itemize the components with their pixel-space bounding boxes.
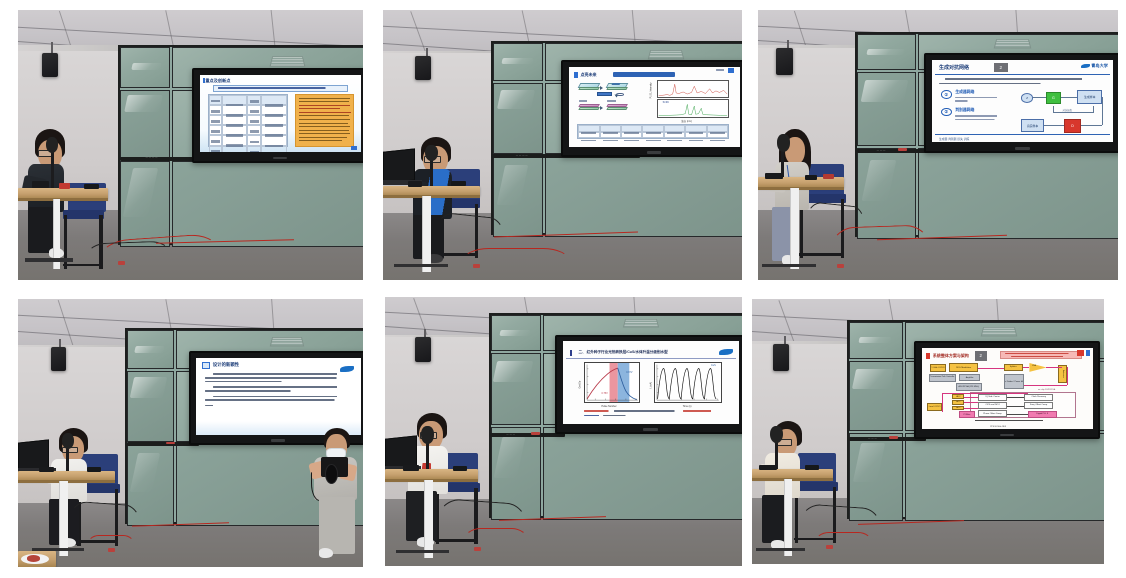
air-vent-grille xyxy=(648,50,684,59)
node-label: 真实样本 xyxy=(1027,124,1038,128)
block-label: Antenna xyxy=(1062,370,1064,378)
signal-wire xyxy=(1007,414,1028,415)
header-rule xyxy=(566,358,736,359)
slide-3: 生成对抗网络 2 青岛大学 ① 生成器网络 ② 判别器网络 xyxy=(932,60,1114,142)
slide-footer: 生成器 判别器 损失 训练 xyxy=(939,137,969,141)
header-marker xyxy=(203,78,205,83)
slide-title-bar xyxy=(613,72,675,78)
ceiling-speaker-icon xyxy=(776,48,793,75)
chart-right-tag: CuS xyxy=(711,364,716,367)
slide-subtitle-banner xyxy=(213,85,348,92)
bullet-desc-line xyxy=(955,100,970,101)
marker xyxy=(889,436,897,439)
photo-3-frame: — — — 生成对抗网络 2 青岛大学 ① 生成器网络 xyxy=(758,10,1118,280)
footer-label: PPS/10 MHz REF xyxy=(990,426,1006,428)
microphone xyxy=(421,426,434,443)
air-vent-grille xyxy=(623,319,660,328)
photo-cell-5: — — — 二、 红外种子行业光热转换层/CuS/水体升温分级别水型 xyxy=(375,289,750,578)
wall-display[interactable]: 点亮未来 xyxy=(561,60,742,157)
plate-food xyxy=(27,555,41,561)
diagram-edge xyxy=(1061,97,1077,98)
device-schematic xyxy=(577,82,652,120)
desk-edge xyxy=(758,187,844,190)
photo-cell-4: 设计的新颖性 xyxy=(0,289,375,578)
floor-cable-black xyxy=(87,241,171,268)
desk-device xyxy=(765,173,783,179)
chart-right-ylabel: I, (nA) xyxy=(649,382,652,389)
slide-header: 生成对抗网络 xyxy=(939,64,969,71)
slide-table xyxy=(208,94,288,147)
desk-leg xyxy=(756,548,805,551)
diagram-node-real-sample: 真实样本 xyxy=(1021,119,1045,131)
block-label: Phase Offset Comp. xyxy=(983,413,1002,415)
diagram-edge xyxy=(1102,97,1103,125)
board-pane xyxy=(491,353,542,425)
logo-swoosh-icon xyxy=(719,349,733,355)
board-pane xyxy=(918,148,1118,239)
cable-clip xyxy=(826,545,833,549)
dsp-group-label: on-chip DSP/FPGA xyxy=(1038,389,1055,391)
cable-clip xyxy=(118,261,125,265)
block-label: ADC xyxy=(956,401,960,403)
board-pane xyxy=(493,43,543,81)
block-label: DDS Modulator xyxy=(956,367,971,369)
signal-wire xyxy=(1007,397,1024,398)
wall-display[interactable]: 重点及创新点 xyxy=(192,68,363,163)
diagram-edge xyxy=(1044,125,1064,126)
desk-device xyxy=(823,174,834,179)
signal-wire xyxy=(964,397,978,398)
chart-right xyxy=(654,362,721,403)
desk-device xyxy=(408,181,422,186)
block-transmission-path-controller: Transmission Path Controller xyxy=(929,374,956,382)
desk-edge xyxy=(752,478,833,481)
board-pane xyxy=(905,433,1104,521)
signal-wire xyxy=(1024,385,1067,386)
board-pane xyxy=(127,330,175,368)
chart-left xyxy=(584,362,641,403)
tray-label: — — — xyxy=(877,150,886,152)
ceiling-speaker-icon xyxy=(415,337,431,361)
diagram-edge-label: 对抗损失 xyxy=(1063,108,1073,112)
bullet-desc-line xyxy=(955,97,1006,98)
photo-cell-3: — — — 生成对抗网络 2 青岛大学 ① 生成器网络 xyxy=(750,0,1126,289)
block-phase-offset-comp: Phase Offset Comp. xyxy=(978,410,1007,416)
board-pane xyxy=(543,427,742,519)
display-logo-plate xyxy=(1000,434,1015,436)
block-cic-nco: CIC/Local NCO xyxy=(978,402,1007,408)
board-pane xyxy=(849,322,903,359)
photo-1-frame: — — — — 重点及创新点 xyxy=(18,10,363,280)
desk-leg xyxy=(25,258,73,261)
display-screen[interactable]: 点亮未来 xyxy=(569,67,740,147)
display-logo-plate xyxy=(273,157,287,159)
air-vent-grille xyxy=(269,56,305,66)
header-marker xyxy=(926,353,930,359)
photo-5-frame: — — — 二、 红外种子行业光热转换层/CuS/水体升温分级别水型 xyxy=(385,297,742,566)
block-label: Clock Recovery xyxy=(1032,396,1047,398)
caption-line xyxy=(584,410,612,412)
cable-clip xyxy=(473,264,480,268)
bullet-desc-line xyxy=(955,119,1002,120)
ceiling-speaker-icon xyxy=(42,53,58,77)
block-clock-recovery: Clock Recovery xyxy=(1024,394,1053,400)
display-screen[interactable]: 生成对抗网络 2 青岛大学 ① 生成器网络 ② 判别器网络 xyxy=(932,60,1114,142)
chart-left-annotation-1: 0.75V xyxy=(601,392,607,395)
bullet-title: 生成器网络 xyxy=(955,90,974,95)
block-ocxo: 1 GHz OCXO xyxy=(930,364,945,372)
desk-device xyxy=(87,467,101,472)
header-bar xyxy=(570,350,573,357)
photo-4-frame: 设计的新颖性 xyxy=(18,299,363,567)
bullet-number: ① xyxy=(941,90,952,98)
wall-display[interactable]: 系统整体方案与架构 2 1 GHz OCXO DD xyxy=(914,341,1101,439)
chart-annotation: S=46 xyxy=(663,101,669,104)
tray-label: — — — — xyxy=(146,157,158,159)
air-vent-grille xyxy=(981,327,1018,336)
slide-body-line xyxy=(205,405,215,407)
desk-leg xyxy=(424,480,433,558)
slide-header: 二、 红外种子行业光热转换层/CuS/水体升温分级别水型 xyxy=(578,350,667,355)
floor-cable-red xyxy=(815,532,871,553)
block-label: ADC/FPGA (125 MS/s) xyxy=(958,386,978,388)
board-pane xyxy=(857,34,916,70)
block-adc-2: ADC xyxy=(952,400,964,405)
slide-body-line xyxy=(213,373,351,375)
slide-body-line xyxy=(205,381,290,383)
tray-label: — — — — xyxy=(516,155,528,157)
block-label: CIC/Local NCO xyxy=(985,404,999,406)
caption-line xyxy=(614,410,681,412)
diagram-node-generator: G xyxy=(1046,92,1061,104)
board-pane xyxy=(545,156,742,238)
block-digital-pll: Digital PLL II xyxy=(1028,411,1057,417)
microphone xyxy=(62,433,74,449)
block-label: 1 GHz OCXO xyxy=(931,367,944,369)
desk-device xyxy=(453,466,467,471)
board-pane xyxy=(491,315,542,351)
node-label: 生成样本 xyxy=(1084,95,1095,99)
board-pane xyxy=(120,161,170,247)
desk-device xyxy=(84,184,100,189)
chart-left-xlabel: Pulse Number xyxy=(601,405,616,408)
cable-clip xyxy=(837,264,844,268)
chart-right-xlabel: Time (s) xyxy=(683,405,692,408)
slide-corner-text xyxy=(716,69,726,70)
desk-leg xyxy=(394,264,448,267)
desk-device xyxy=(805,465,819,470)
floor-cable-red xyxy=(87,535,135,556)
display-screen[interactable]: 系统整体方案与架构 2 1 GHz OCXO DD xyxy=(922,348,1093,429)
legs xyxy=(319,497,356,553)
caption-line xyxy=(584,415,602,417)
signal-wire xyxy=(1067,367,1068,385)
caption-line xyxy=(603,415,628,417)
block-label: Freq. Offset Comp. xyxy=(1030,404,1048,406)
board-pane xyxy=(857,72,916,146)
slide-body-line xyxy=(213,386,351,388)
chart-left-annotation-2: 0.97V xyxy=(626,371,632,374)
block-label: PI Filter xyxy=(964,414,971,416)
board-pane xyxy=(120,90,170,159)
floor-cable-black xyxy=(798,201,869,272)
display-logo-plate xyxy=(271,439,285,441)
wall-display[interactable]: 生成对抗网络 2 青岛大学 ① 生成器网络 ② 判别器网络 xyxy=(924,53,1118,153)
block-adc-1: ADC xyxy=(952,394,964,399)
microphone xyxy=(777,134,790,152)
block-label: Digital PLL II xyxy=(1036,413,1048,415)
footer-rule xyxy=(935,134,1109,136)
slide-callout xyxy=(295,94,355,147)
desk-edge xyxy=(18,198,108,201)
bullet-desc-line xyxy=(955,115,1006,116)
board-pane xyxy=(172,161,363,247)
slide-6: 系统整体方案与架构 2 1 GHz OCXO DD xyxy=(922,348,1093,429)
block-dds-modulator: DDS Modulator xyxy=(949,363,978,372)
block-label: Local OCXO xyxy=(929,406,941,408)
ceiling-speaker-icon xyxy=(773,344,789,371)
desk-device xyxy=(451,181,465,186)
slide-body-line xyxy=(205,377,351,379)
floor-cable-red xyxy=(462,248,570,275)
block-label: IQ Sub- Carrier xyxy=(986,396,1000,398)
desk-leg xyxy=(784,479,792,556)
signal-wire xyxy=(964,402,978,403)
desk-leg xyxy=(790,188,799,269)
marker xyxy=(531,432,540,435)
chart-xlabel: 波长 (nm) xyxy=(681,119,691,123)
slide-corner-badge xyxy=(728,68,734,73)
signal-wire xyxy=(1023,367,1030,368)
diagram-node-z: z xyxy=(1021,93,1034,103)
block-label: Transmission Path Controller xyxy=(930,377,954,379)
spectrum-chart-top xyxy=(657,80,729,98)
signal-wire xyxy=(1007,406,1024,407)
photo-2-frame: — — — — 点亮未来 xyxy=(383,10,742,280)
tray-label: — — — xyxy=(506,434,515,436)
diagram-edge xyxy=(1081,125,1103,126)
university-logo: 青岛大学 xyxy=(1081,63,1108,69)
floor-cable-red xyxy=(464,528,528,552)
microphone xyxy=(425,145,437,161)
desk-device xyxy=(59,183,69,189)
cable-clip xyxy=(474,547,481,551)
air-vent-grille xyxy=(270,337,304,346)
signal-wire xyxy=(964,408,978,409)
title-ribbon xyxy=(1000,351,1082,360)
desk-device xyxy=(32,181,49,188)
block-label: Amplifier xyxy=(966,377,974,379)
display-logo-plate xyxy=(643,428,658,430)
block-label: ADC xyxy=(956,396,960,398)
block-label: Splitter xyxy=(1010,366,1017,368)
slide-header: 重点及创新点 xyxy=(205,78,230,84)
signal-wire xyxy=(978,368,1004,369)
air-vent-grille xyxy=(993,39,1031,48)
diagram-edge xyxy=(1093,106,1094,113)
ceiling-speaker-icon xyxy=(51,347,66,371)
diagram-node-generated-sample: 生成样本 xyxy=(1077,90,1102,103)
board-pane xyxy=(127,371,175,442)
bullet-title: 判别器网络 xyxy=(955,108,974,113)
photo-cell-6: — — — 系统整体方案与架构 2 xyxy=(750,289,1126,578)
block-lna-label: LNA xyxy=(1032,365,1036,367)
corner-badge xyxy=(1077,350,1084,356)
block-freq-offset-comp: Freq. Offset Comp. xyxy=(1024,402,1053,408)
block-local-ocxo: Local OCXO xyxy=(927,403,942,411)
slide-body-line xyxy=(213,396,351,398)
display-screen[interactable]: 二、 红外种子行业光热转换层/CuS/水体升温分级别水型 xyxy=(563,341,740,423)
slide-2: 点亮未来 xyxy=(569,67,740,147)
desk-leg xyxy=(422,196,431,272)
chart-left-ylabel: Gm/Go xyxy=(579,381,582,389)
photo-cell-1: — — — — 重点及创新点 xyxy=(0,0,375,289)
desk-leg xyxy=(396,550,450,553)
marker xyxy=(166,442,174,445)
ceiling-speaker-icon xyxy=(415,56,431,80)
block-amplifier: Amplifier xyxy=(959,374,980,381)
logo-swoosh-icon xyxy=(340,366,354,372)
chart-ylabel: PL/EL Intensity xyxy=(650,83,653,99)
desk-device xyxy=(805,175,818,180)
photo-cell-2: — — — — 点亮未来 xyxy=(375,0,750,289)
photo-grid: — — — — 重点及创新点 xyxy=(0,0,1126,578)
tray-label: — — — xyxy=(868,438,877,440)
logo-swoosh-icon xyxy=(1081,64,1090,68)
diagram-edge xyxy=(1053,112,1093,113)
block-power-divider: Power Divider / Power Monitor xyxy=(1004,374,1025,389)
slide-1: 重点及创新点 xyxy=(200,75,361,153)
slide-header: 系统整体方案与架构 xyxy=(933,353,969,359)
block-label: Power Divider / Power Monitor xyxy=(1004,381,1025,383)
slide-body-line xyxy=(205,399,349,401)
shoe xyxy=(319,548,333,557)
block-pi-filter: PI Filter xyxy=(959,411,974,418)
signal-wire xyxy=(1046,367,1061,368)
block-iq-subcarrier: IQ Sub- Carrier xyxy=(978,394,1007,400)
photographer xyxy=(304,428,363,562)
university-logo-mark xyxy=(340,360,356,378)
slide-5: 二、 红外种子行业光热转换层/CuS/水体升温分级别水型 xyxy=(563,341,740,423)
corner-badge xyxy=(1086,350,1090,356)
desk-device xyxy=(403,465,419,470)
board-pane xyxy=(849,361,903,431)
desk-edge xyxy=(383,195,480,198)
signal-wire xyxy=(942,393,943,412)
slide-header: 设计的新颖性 xyxy=(213,362,239,368)
block-adc-fpga: ADC/FPGA (125 MS/s) xyxy=(956,383,982,391)
slide-body-line xyxy=(939,83,1052,85)
marker xyxy=(898,148,907,151)
diagram-node-discriminator: D xyxy=(1064,119,1080,133)
slide-4: 设计的新颖性 xyxy=(196,358,360,435)
slide-header: 点亮未来 xyxy=(581,72,597,78)
slide-parameter-table xyxy=(577,124,729,139)
display-screen[interactable]: 设计的新颖性 xyxy=(196,358,360,435)
slide-corner-badge xyxy=(351,146,357,150)
header-marker xyxy=(574,72,578,78)
header-rule xyxy=(935,74,1109,75)
photo-6-frame: — — — 系统整体方案与架构 2 xyxy=(752,299,1104,564)
block-adc-3: ADC xyxy=(952,406,964,411)
signal-wire xyxy=(942,393,1027,394)
bullet-number: ② xyxy=(941,108,952,116)
block-label: ADC xyxy=(956,407,960,409)
slide-body-line xyxy=(205,390,300,392)
wall-display[interactable]: 二、 红外种子行业光热转换层/CuS/水体升温分级别水型 xyxy=(555,335,742,435)
logo-text: 青岛大学 xyxy=(1091,63,1108,68)
cable-clip xyxy=(108,548,115,552)
marker-tray xyxy=(490,433,565,437)
display-logo-plate xyxy=(647,151,662,153)
slide-body-line xyxy=(945,78,1098,80)
diagram-edge xyxy=(1033,97,1046,98)
block-splitter: Splitter xyxy=(1004,364,1023,371)
display-screen[interactable]: 重点及创新点 xyxy=(200,75,361,153)
desk-device xyxy=(39,467,55,472)
desk-device xyxy=(759,465,777,470)
slide-number: 2 xyxy=(975,351,987,362)
display-logo-plate xyxy=(1015,147,1031,149)
board-pane xyxy=(493,83,543,153)
slide-number: 2 xyxy=(994,63,1009,72)
board-pane xyxy=(120,47,170,88)
caption-line xyxy=(683,410,715,412)
header-icon xyxy=(202,362,210,369)
signal-wire xyxy=(975,420,1043,421)
